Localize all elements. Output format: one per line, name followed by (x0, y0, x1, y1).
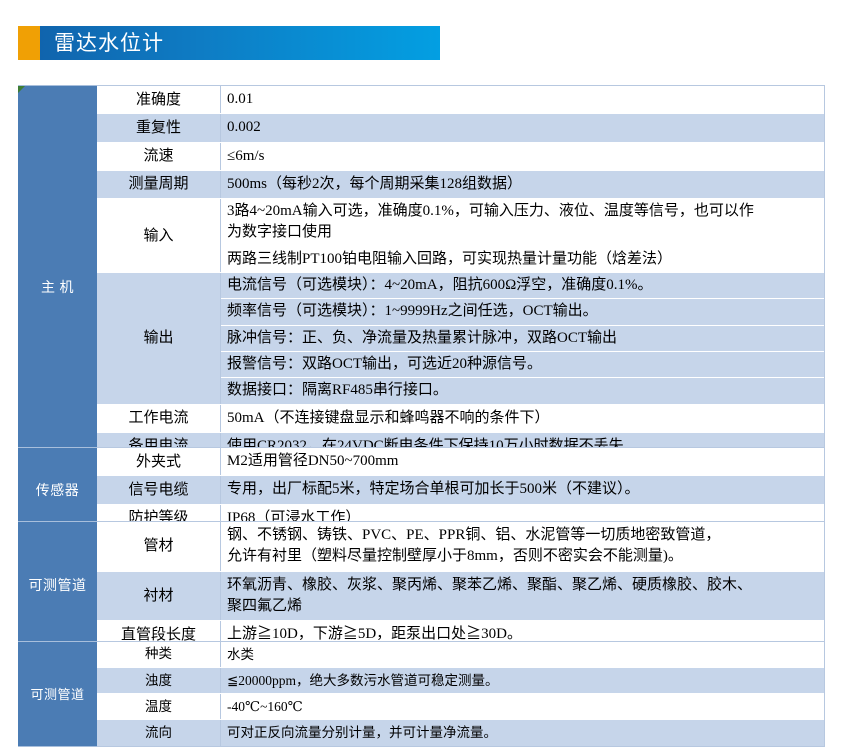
table-row: 流向可对正反向流量分别计量，并可计量净流量。 (97, 720, 824, 745)
row-value-line: 数据接口：隔离RF485串行接口。 (221, 378, 824, 403)
row-key-cell: 准确度 (97, 86, 221, 113)
table-row: 种类水类 (97, 642, 824, 668)
row-key-cell: 流向 (97, 720, 221, 745)
row-key-cell: 输出 (97, 273, 221, 403)
row-value-line: 脉冲信号：正、负、净流量及热量累计脉冲，双路OCT输出 (221, 326, 824, 352)
spec-block-sensor: 传感器外夹式M2适用管径DN50~700mm信号电缆专用，出厂标配5米，特定场合… (18, 447, 825, 533)
value-text: 水类 (227, 645, 824, 664)
row-key-cell: 流速 (97, 143, 221, 170)
table-row: 浊度≦20000ppm，绝大多数污水管道可稳定测量。 (97, 668, 824, 694)
value-text: 两路三线制PT100铂电阻输入回路，可实现热量计量功能（焓差法） (227, 249, 824, 270)
title-accent-bar (18, 26, 40, 60)
table-row: 准确度0.01 (97, 86, 824, 114)
table-row: 信号电缆专用，出厂标配5米，特定场合单根可加长于500米（不建议）。 (97, 476, 824, 504)
row-value-cell: 钢、不锈钢、铸铁、PVC、PE、PPR铜、铝、水泥管等一切质地密致管道，允许有衬… (221, 522, 824, 571)
row-key-cell: 工作电流 (97, 405, 221, 432)
row-value-cell: ≦20000ppm，绝大多数污水管道可稳定测量。 (221, 668, 824, 693)
row-value-cell: 500ms（每秒2次，每个周期采集128组数据） (221, 171, 824, 198)
title-gradient-bar: 雷达水位计 (40, 26, 440, 60)
value-text: 50mA（不连接键盘显示和蜂鸣器不响的条件下） (227, 408, 824, 429)
table-row: 衬材环氧沥青、橡胶、灰浆、聚丙烯、聚苯乙烯、聚酯、聚乙烯、硬质橡胶、胶木、聚四氟… (97, 572, 824, 622)
row-value-cell: 可对正反向流量分别计量，并可计量净流量。 (221, 720, 824, 745)
spec-block-pipe-1: 可测管道管材钢、不锈钢、铸铁、PVC、PE、PPR铜、铝、水泥管等一切质地密致管… (18, 521, 825, 649)
row-value-cell: -40℃~160℃ (221, 694, 824, 719)
row-value-group: 3路4~20mA输入可选，准确度0.1%，可输入压力、液位、温度等信号，也可以作… (221, 199, 824, 272)
row-value-cell: M2适用管径DN50~700mm (221, 448, 824, 475)
value-text: 0.002 (227, 117, 824, 138)
value-text: M2适用管径DN50~700mm (227, 451, 824, 472)
row-value-line: 电流信号（可选模块）：4~20mA，阻抗600Ω浮空，准确度0.1%。 (221, 273, 824, 299)
value-text: ≤6m/s (227, 146, 824, 167)
row-value-cell: ≤6m/s (221, 143, 824, 170)
value-text: 为数字接口使用 (227, 222, 824, 243)
row-key-cell: 输入 (97, 199, 221, 272)
value-text: 聚四氟乙烯 (227, 596, 824, 617)
value-text: 专用，出厂标配5米，特定场合单根可加长于500米（不建议）。 (227, 479, 824, 500)
page-title-banner: 雷达水位计 (18, 26, 440, 60)
block-label-host: 主 机 (18, 85, 97, 489)
table-row: 输入3路4~20mA输入可选，准确度0.1%，可输入压力、液位、温度等信号，也可… (97, 199, 824, 273)
page-title: 雷达水位计 (54, 33, 164, 54)
row-key-cell: 浊度 (97, 668, 221, 693)
block-rows-sensor: 外夹式M2适用管径DN50~700mm信号电缆专用，出厂标配5米，特定场合单根可… (97, 447, 825, 533)
row-value-cell: 0.002 (221, 114, 824, 141)
row-key-cell: 重复性 (97, 114, 221, 141)
row-value-line: 3路4~20mA输入可选，准确度0.1%，可输入压力、液位、温度等信号，也可以作… (221, 199, 824, 247)
value-text: 可对正反向流量分别计量，并可计量净流量。 (227, 723, 824, 742)
block-label-pipe-2: 可测管道 (18, 641, 97, 747)
row-value-line: 频率信号（可选模块）：1~9999Hz之间任选，OCT输出。 (221, 299, 824, 325)
table-row: 输出电流信号（可选模块）：4~20mA，阻抗600Ω浮空，准确度0.1%。频率信… (97, 273, 824, 404)
value-text: 钢、不锈钢、铸铁、PVC、PE、PPR铜、铝、水泥管等一切质地密致管道， (227, 525, 824, 546)
table-row: 温度-40℃~160℃ (97, 694, 824, 720)
row-key-cell: 管材 (97, 522, 221, 571)
table-row: 流速≤6m/s (97, 143, 824, 171)
value-text: 允许有衬里（塑料尽量控制壁厚小于8mm，否则不密实会不能测量)。 (227, 546, 824, 567)
table-row: 外夹式M2适用管径DN50~700mm (97, 448, 824, 476)
table-row: 管材钢、不锈钢、铸铁、PVC、PE、PPR铜、铝、水泥管等一切质地密致管道，允许… (97, 522, 824, 572)
row-key-cell: 温度 (97, 694, 221, 719)
row-value-line: 两路三线制PT100铂电阻输入回路，可实现热量计量功能（焓差法） (221, 247, 824, 272)
row-value-cell: 0.01 (221, 86, 824, 113)
table-row: 工作电流50mA（不连接键盘显示和蜂鸣器不响的条件下） (97, 405, 824, 433)
value-text: 环氧沥青、橡胶、灰浆、聚丙烯、聚苯乙烯、聚酯、聚乙烯、硬质橡胶、胶木、 (227, 575, 824, 596)
spec-block-pipe-2: 可测管道种类水类浊度≦20000ppm，绝大多数污水管道可稳定测量。温度-40℃… (18, 641, 825, 747)
block-label-pipe-1: 可测管道 (18, 521, 97, 649)
row-key-cell: 衬材 (97, 572, 221, 621)
row-value-group: 电流信号（可选模块）：4~20mA，阻抗600Ω浮空，准确度0.1%。频率信号（… (221, 273, 824, 403)
row-key-cell: 测量周期 (97, 171, 221, 198)
block-rows-pipe-1: 管材钢、不锈钢、铸铁、PVC、PE、PPR铜、铝、水泥管等一切质地密致管道，允许… (97, 521, 825, 649)
value-text: 3路4~20mA输入可选，准确度0.1%，可输入压力、液位、温度等信号，也可以作 (227, 201, 824, 222)
comment-marker-icon (18, 86, 25, 93)
row-key-cell: 种类 (97, 642, 221, 667)
row-key-cell: 外夹式 (97, 448, 221, 475)
value-text: 报警信号：双路OCT输出，可选近20种源信号。 (227, 354, 824, 375)
value-text: 电流信号（可选模块）：4~20mA，阻抗600Ω浮空，准确度0.1%。 (227, 275, 824, 296)
row-value-cell: 50mA（不连接键盘显示和蜂鸣器不响的条件下） (221, 405, 824, 432)
value-text: ≦20000ppm，绝大多数污水管道可稳定测量。 (227, 671, 824, 690)
block-label-sensor: 传感器 (18, 447, 97, 533)
value-text: 脉冲信号：正、负、净流量及热量累计脉冲，双路OCT输出 (227, 328, 824, 349)
value-text: -40℃~160℃ (227, 697, 824, 716)
value-text: 数据接口：隔离RF485串行接口。 (227, 380, 824, 401)
row-value-cell: 环氧沥青、橡胶、灰浆、聚丙烯、聚苯乙烯、聚酯、聚乙烯、硬质橡胶、胶木、聚四氟乙烯 (221, 572, 824, 621)
row-key-cell: 信号电缆 (97, 476, 221, 503)
table-row: 测量周期500ms（每秒2次，每个周期采集128组数据） (97, 171, 824, 199)
table-row: 重复性0.002 (97, 114, 824, 142)
spec-block-host: 主 机准确度0.01重复性0.002流速≤6m/s测量周期500ms（每秒2次，… (18, 85, 825, 489)
row-value-line: 报警信号：双路OCT输出，可选近20种源信号。 (221, 352, 824, 378)
row-value-cell: 专用，出厂标配5米，特定场合单根可加长于500米（不建议）。 (221, 476, 824, 503)
block-rows-host: 准确度0.01重复性0.002流速≤6m/s测量周期500ms（每秒2次，每个周… (97, 85, 825, 489)
row-value-cell: 水类 (221, 642, 824, 667)
value-text: 0.01 (227, 89, 824, 110)
block-rows-pipe-2: 种类水类浊度≦20000ppm，绝大多数污水管道可稳定测量。温度-40℃~160… (97, 641, 825, 747)
value-text: 频率信号（可选模块）：1~9999Hz之间任选，OCT输出。 (227, 301, 824, 322)
value-text: 500ms（每秒2次，每个周期采集128组数据） (227, 174, 824, 195)
